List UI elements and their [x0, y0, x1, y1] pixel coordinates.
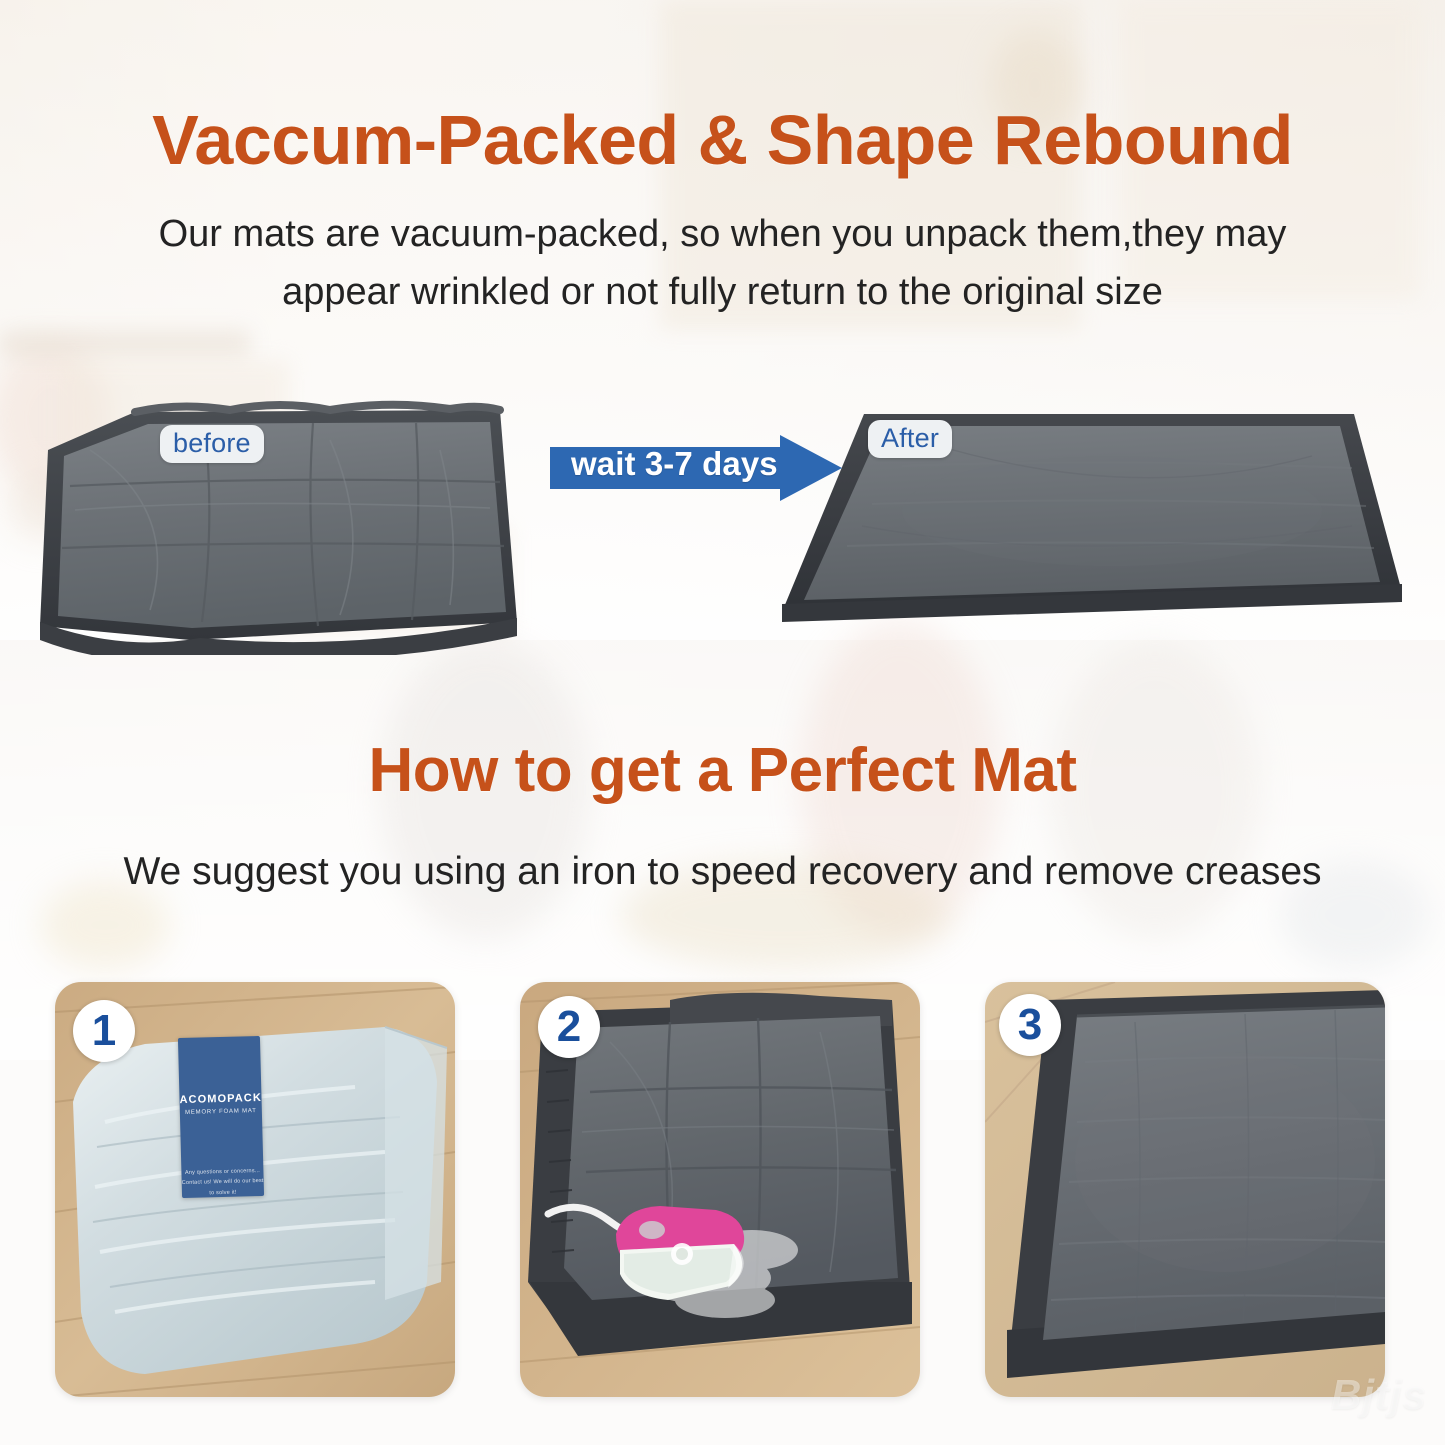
section2-heading: How to get a Perfect Mat	[0, 735, 1445, 806]
after-badge: After	[868, 420, 952, 458]
mat-before: before	[30, 390, 630, 655]
mat-after-illustration	[752, 396, 1412, 636]
step-panel-1[interactable]: ACOMOPACK® MEMORY FOAM MAT Any questions…	[55, 982, 455, 1397]
step-number-1: 1	[73, 1000, 135, 1062]
section1-heading: Vaccum-Packed & Shape Rebound	[0, 100, 1445, 180]
infographic-root: Vaccum-Packed & Shape Rebound Our mats a…	[0, 0, 1445, 1445]
mat-after: After	[752, 396, 1412, 636]
package-contact: Contact us! We will do our best to solve…	[182, 1176, 264, 1198]
section2-subtitle: We suggest you using an iron to speed re…	[0, 850, 1445, 894]
section1-subtitle-line1: Our mats are vacuum-packed, so when you …	[0, 213, 1445, 256]
wait-arrow-label: wait 3-7 days	[571, 445, 778, 483]
step-panel-2[interactable]: 2	[520, 982, 920, 1397]
section1-subtitle-line2: appear wrinkled or not fully return to t…	[0, 271, 1445, 314]
package-product: MEMORY FOAM MAT	[180, 1108, 262, 1116]
before-badge: before	[160, 425, 264, 463]
watermark: Bjtjs	[1331, 1371, 1427, 1419]
mat-before-illustration	[30, 390, 630, 655]
package-label: ACOMOPACK® MEMORY FOAM MAT Any questions…	[178, 1036, 264, 1198]
bg-shelf-panel	[0, 330, 250, 358]
package-brand: ACOMOPACK	[179, 1092, 262, 1106]
step-panel-3[interactable]: 3	[985, 982, 1385, 1397]
step-number-3: 3	[999, 994, 1061, 1056]
step-number-2: 2	[538, 996, 600, 1058]
